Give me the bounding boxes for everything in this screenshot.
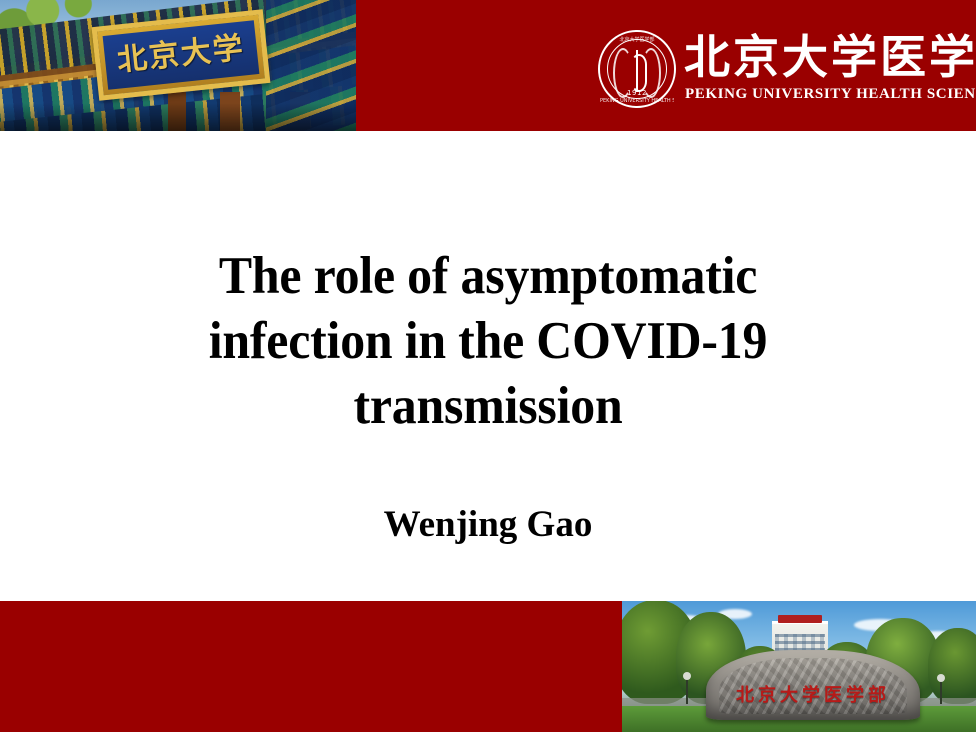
asclepius-snake-icon xyxy=(631,54,647,92)
slide-title-line-3: transmission xyxy=(112,374,864,439)
seal-arc-top-text: 北京大学医学部 xyxy=(600,36,674,43)
presenter-name: Wenjing Gao xyxy=(88,503,888,547)
gate-plaque-inner: 北京大学 xyxy=(103,20,260,90)
campus-stone-marker: 北京大学医学部 xyxy=(706,650,920,720)
footer-band: 北京大学医学部 xyxy=(0,601,976,732)
campus-photo: 北京大学医学部 xyxy=(622,601,976,732)
campus-building-sign xyxy=(778,615,822,623)
seal-year-text: 1912 xyxy=(600,89,674,97)
university-logo: 北京大学医学部 1912 PEKING UNIVERSITY HEALTH SC… xyxy=(598,30,950,108)
seal-arc-bottom-text: PEKING UNIVERSITY HEALTH SCIENCE CENTER xyxy=(600,98,674,104)
logo-english-name: PEKING UNIVERSITY HEALTH SCIENCE CENTER xyxy=(685,86,976,103)
peking-university-gate-photo: 北京大学 xyxy=(0,0,356,131)
campus-lamp-icon xyxy=(686,678,688,704)
campus-stone-text: 北京大学医学部 xyxy=(706,681,920,707)
slide-title-line-2: infection in the COVID-19 xyxy=(112,309,864,374)
gate-plaque-text: 北京大学 xyxy=(116,33,246,76)
campus-lamp-icon xyxy=(940,680,942,704)
slide-title-line-1: The role of asymptomatic xyxy=(112,244,864,309)
title-area: The role of asymptomatic infection in th… xyxy=(88,244,888,439)
gate-photo-shadow xyxy=(0,103,356,131)
title-slide: 北京大学 北京大学医学部 1912 PEKING UNIVERSITY HEAL… xyxy=(0,0,976,732)
logo-chinese-name: 北京大学医学部 xyxy=(684,32,976,82)
campus-tree xyxy=(928,628,976,704)
header-band: 北京大学 北京大学医学部 1912 PEKING UNIVERSITY HEAL… xyxy=(0,0,976,131)
university-seal-icon: 北京大学医学部 1912 PEKING UNIVERSITY HEALTH SC… xyxy=(598,30,676,108)
